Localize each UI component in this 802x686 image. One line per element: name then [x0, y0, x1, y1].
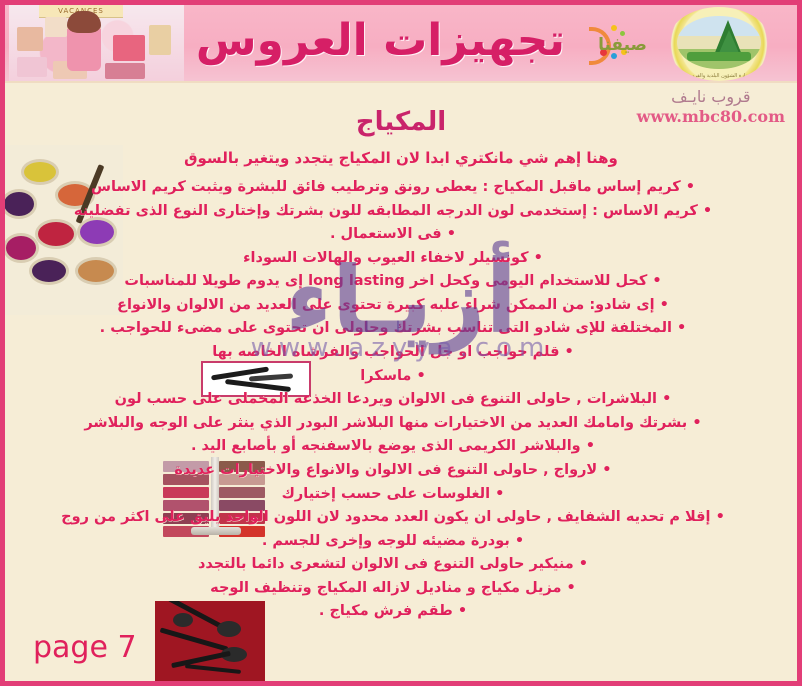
bride-shopping-illustration: VACANCES [9, 5, 184, 83]
shopping-bag-icon [17, 27, 43, 51]
page-header-banner: VACANCES تجهيزات العروس صيفنا [5, 5, 797, 83]
page-content: المكياج وهنا إهم شي مانكتري ابدا لان الم… [5, 83, 797, 681]
list-item-continuation: فى الاستعمال . [29, 224, 757, 245]
credit-group-name: قروب نايـف [637, 87, 785, 107]
brush-handle [185, 664, 241, 674]
list-item: البلاشرات , حاولى التنوع فى الالوان ويرد… [29, 389, 757, 410]
list-item: الغلوسات على حسب إختيارك [29, 484, 757, 505]
saifna-logo-word: صيفنا [598, 35, 647, 55]
seal-band [687, 52, 750, 61]
seal-inner-scene [677, 16, 760, 69]
bride-hair-icon [67, 11, 101, 33]
shopping-bag-icon [105, 63, 145, 79]
banner-title: تجهيزات العروس [196, 15, 565, 66]
shopping-bag-icon [113, 35, 145, 61]
intro-paragraph: وهنا إهم شي مانكتري ابدا لان المكياج يتج… [19, 149, 783, 167]
list-item: إقلا م تحديه الشفايف , حاولى ان يكون الع… [29, 507, 757, 528]
page-number-label: page 7 [33, 630, 137, 665]
list-item: مزيل مكياج و مناديل لازاله المكياج وتنظي… [29, 578, 757, 599]
list-item: كريم إساس ماقبل المكياج : يعطى رونق وترط… [29, 177, 757, 198]
credit-website-url: www.mbc80.com [637, 107, 785, 127]
list-item-continuation: والبلاشر الكريمى الذى يوضع بالاسفنجه أو … [29, 436, 757, 457]
shopping-bag-icon [17, 57, 47, 77]
ministry-seal-emblem: وزارة الشؤون البلدية والقروية [667, 7, 771, 81]
list-item-continuation: المختلفة للإى شادو التى تناسب بشرتك وحاو… [29, 318, 757, 339]
makeup-checklist: كريم إساس ماقبل المكياج : يعطى رونق وترط… [29, 177, 757, 622]
list-item: إى شادو: من الممكن شراء علبه كبيرة تحتوى… [29, 295, 757, 316]
list-item: منيكير حاولى التنوع فى الالوان لتشعرى دا… [29, 554, 757, 575]
list-item: لارواج , حاولى التنوع فى الالوان والانوا… [29, 460, 757, 481]
list-item: طقم فرش مكياج . [29, 601, 757, 622]
list-item: كريم الاساس : إستخدمى لون الدرجه المطابق… [29, 201, 757, 222]
seal-caption: وزارة الشؤون البلدية والقروية [667, 73, 771, 79]
magazine-page: VACANCES تجهيزات العروس صيفنا [0, 0, 802, 686]
list-item: بودرة مضيئه للوجه وإخرى للجسم . [29, 531, 757, 552]
site-credit: قروب نايـف www.mbc80.com [637, 87, 785, 127]
saifna-dot-icon [611, 25, 617, 31]
shopping-bag-icon [45, 17, 67, 37]
list-item: كونسيلر لاخفاء العيوب والهالات السوداء [29, 248, 757, 269]
saifna-logo: صيفنا [585, 23, 647, 69]
brush-head [217, 621, 241, 637]
list-item: كحل للاستخدام اليومى وكحل اخر long lasti… [29, 271, 757, 292]
shopping-bag-icon [149, 25, 171, 55]
list-item-continuation: بشرتك وامامك العديد من الاختيارات منها ا… [29, 413, 757, 434]
list-item: ماسكرا [29, 366, 757, 387]
list-item: قلم حواجب او جل الحواجب والفرشاه الخاصه … [29, 342, 757, 363]
